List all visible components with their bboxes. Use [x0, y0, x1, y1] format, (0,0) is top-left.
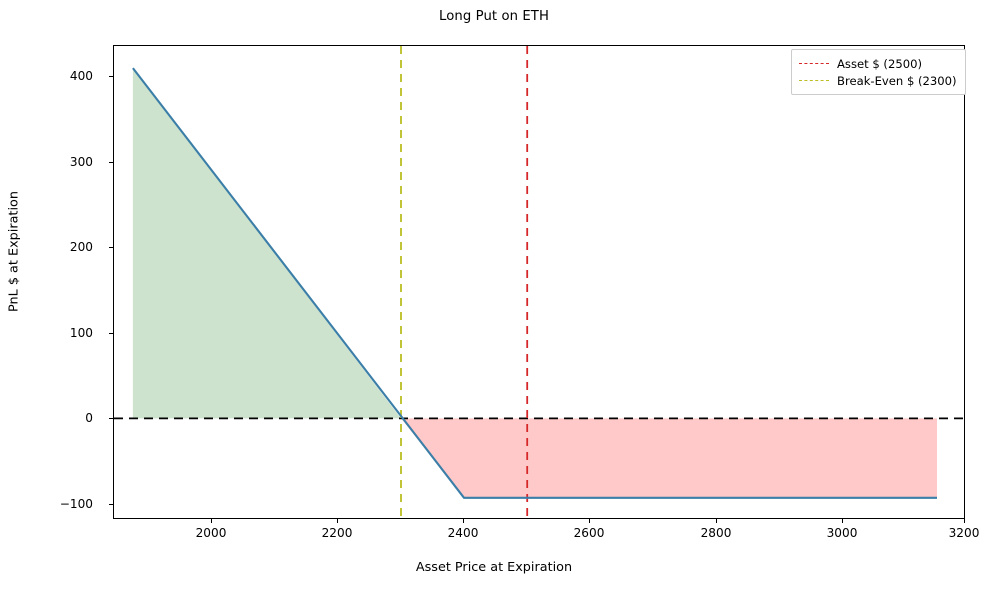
x-axis-label: Asset Price at Expiration	[0, 560, 988, 575]
loss-fill-region	[401, 418, 937, 497]
ytick-label-300: 300	[70, 155, 93, 169]
xtick-mark-2000	[211, 519, 212, 523]
legend-swatch-break-even	[799, 80, 829, 81]
xtick-label-2800: 2800	[701, 526, 732, 540]
xtick-mark-2600	[589, 519, 590, 523]
plot-axes	[113, 45, 965, 519]
ytick-label-0: 0	[85, 411, 93, 425]
xtick-label-2600: 2600	[574, 526, 605, 540]
ytick-mark-minus100	[109, 504, 113, 505]
legend-label-asset-price: Asset $ (2500)	[837, 57, 922, 71]
ytick-mark-100	[109, 333, 113, 334]
chart-legend: Asset $ (2500) Break-Even $ (2300)	[791, 49, 966, 95]
chart-title: Long Put on ETH	[0, 9, 988, 24]
xtick-label-2200: 2200	[322, 526, 353, 540]
xtick-label-2400: 2400	[448, 526, 479, 540]
xtick-mark-3200	[964, 519, 965, 523]
ytick-label-minus100: −100	[60, 497, 93, 511]
legend-entry-break-even: Break-Even $ (2300)	[799, 72, 957, 89]
xtick-mark-3000	[842, 519, 843, 523]
xtick-label-3200: 3200	[949, 526, 980, 540]
legend-swatch-asset-price	[799, 63, 829, 64]
legend-label-break-even: Break-Even $ (2300)	[837, 74, 957, 88]
xtick-mark-2200	[337, 519, 338, 523]
legend-entry-asset-price: Asset $ (2500)	[799, 55, 957, 72]
xtick-mark-2800	[716, 519, 717, 523]
y-axis-label: PnL $ at Expiration	[7, 152, 22, 352]
xtick-label-2000: 2000	[196, 526, 227, 540]
ytick-mark-400	[109, 76, 113, 77]
chart-figure: Long Put on ETH 2000 2200 2400 2600 2800	[0, 0, 988, 590]
plot-canvas	[114, 46, 964, 518]
xtick-mark-2400	[463, 519, 464, 523]
xtick-label-3000: 3000	[827, 526, 858, 540]
ytick-mark-0	[109, 418, 113, 419]
ytick-label-200: 200	[70, 240, 93, 254]
ytick-label-400: 400	[70, 69, 93, 83]
ytick-mark-300	[109, 162, 113, 163]
ytick-mark-200	[109, 247, 113, 248]
ytick-label-100: 100	[70, 326, 93, 340]
